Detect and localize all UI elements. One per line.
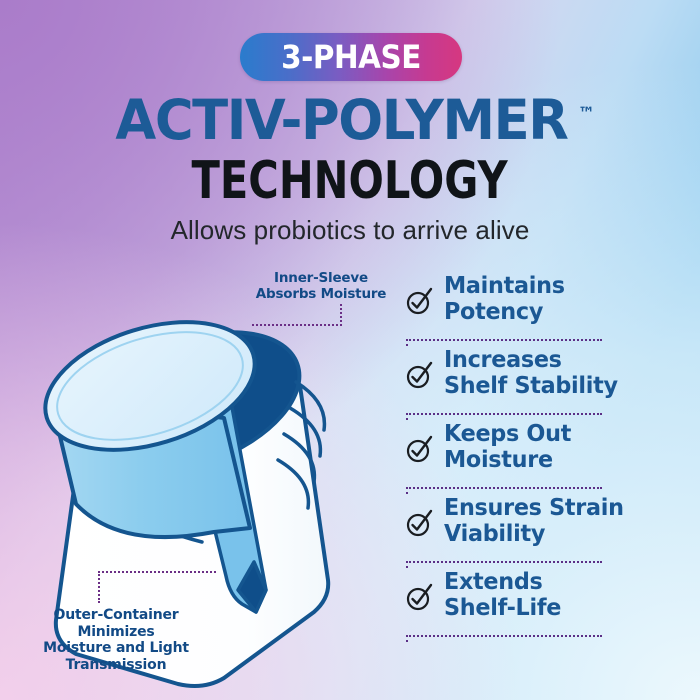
- benefit-separator: [406, 482, 690, 494]
- benefit-separator: [406, 630, 690, 642]
- benefit-label: ExtendsShelf-Life: [444, 570, 561, 622]
- outer-container-leader-horizontal: [98, 571, 216, 573]
- benefit-label-line-2: Shelf-Life: [444, 596, 561, 622]
- callout-outer-line-1: Outer-Container: [18, 607, 214, 624]
- brand-title: ACTIV-POLYMER™: [0, 93, 700, 148]
- benefit-item: MaintainsPotency: [404, 272, 690, 334]
- benefit-label-line-2: Moisture: [444, 448, 571, 474]
- benefit-label: Keeps OutMoisture: [444, 422, 571, 474]
- check-circle-icon: [404, 582, 434, 612]
- trademark-symbol: ™: [578, 104, 595, 124]
- benefit-item: ExtendsShelf-Life: [404, 568, 690, 630]
- three-phase-badge: 3-PHASE: [240, 33, 462, 81]
- outer-container-leader-vertical: [98, 571, 100, 603]
- callout-inner-sleeve: Inner-Sleeve Absorbs Moisture: [228, 271, 414, 303]
- check-circle-icon: [404, 434, 434, 464]
- callout-outer-line-3: Moisture and Light: [18, 640, 214, 657]
- callout-inner-line-2: Absorbs Moisture: [228, 287, 414, 303]
- benefits-list: MaintainsPotencyIncreasesShelf Stability…: [404, 272, 690, 642]
- benefit-separator: [406, 556, 690, 568]
- inner-sleeve-leader-horizontal: [252, 324, 342, 326]
- benefit-label-line-2: Shelf Stability: [444, 374, 618, 400]
- benefit-label-line-1: Keeps Out: [444, 422, 571, 448]
- benefit-separator: [406, 408, 690, 420]
- callout-outer-line-4: Transmission: [18, 657, 214, 674]
- technology-title: TECHNOLOGY: [0, 155, 700, 207]
- technology-label: TECHNOLOGY: [192, 155, 508, 207]
- callout-outer-line-2: Minimizes: [18, 624, 214, 641]
- benefit-label-line-2: Viability: [444, 522, 624, 548]
- separator-tick: [406, 413, 408, 420]
- benefit-label-line-1: Maintains: [444, 274, 565, 300]
- check-circle-icon: [404, 360, 434, 390]
- check-circle-icon: [404, 286, 434, 316]
- benefit-item: Keeps OutMoisture: [404, 420, 690, 482]
- benefit-label-line-2: Potency: [444, 300, 565, 326]
- separator-dots: [406, 413, 602, 415]
- benefit-label-line-1: Extends: [444, 570, 561, 596]
- benefit-label: MaintainsPotency: [444, 274, 565, 326]
- separator-dots: [406, 635, 602, 637]
- separator-tick: [406, 561, 408, 568]
- callout-outer-container: Outer-Container Minimizes Moisture and L…: [18, 607, 214, 673]
- benefit-label: IncreasesShelf Stability: [444, 348, 618, 400]
- benefit-label-line-1: Ensures Strain: [444, 496, 624, 522]
- poster-canvas: 3-PHASE ACTIV-POLYMER™ TECHNOLOGY Allows…: [0, 0, 700, 700]
- separator-dots: [406, 487, 602, 489]
- separator-tick: [406, 339, 408, 346]
- benefit-item: Ensures StrainViability: [404, 494, 690, 556]
- brand-name: ACTIV-POLYMER: [115, 93, 567, 148]
- tagline: Allows probiotics to arrive alive: [0, 215, 700, 246]
- badge-label: 3-PHASE: [281, 41, 421, 73]
- benefit-item: IncreasesShelf Stability: [404, 346, 690, 408]
- benefit-label: Ensures StrainViability: [444, 496, 624, 548]
- benefit-separator: [406, 334, 690, 346]
- callout-inner-line-1: Inner-Sleeve: [228, 271, 414, 287]
- separator-tick: [406, 487, 408, 494]
- benefit-label-line-1: Increases: [444, 348, 618, 374]
- check-circle-icon: [404, 508, 434, 538]
- separator-tick: [406, 635, 408, 642]
- separator-dots: [406, 339, 602, 341]
- inner-sleeve-leader-vertical: [340, 304, 342, 326]
- separator-dots: [406, 561, 602, 563]
